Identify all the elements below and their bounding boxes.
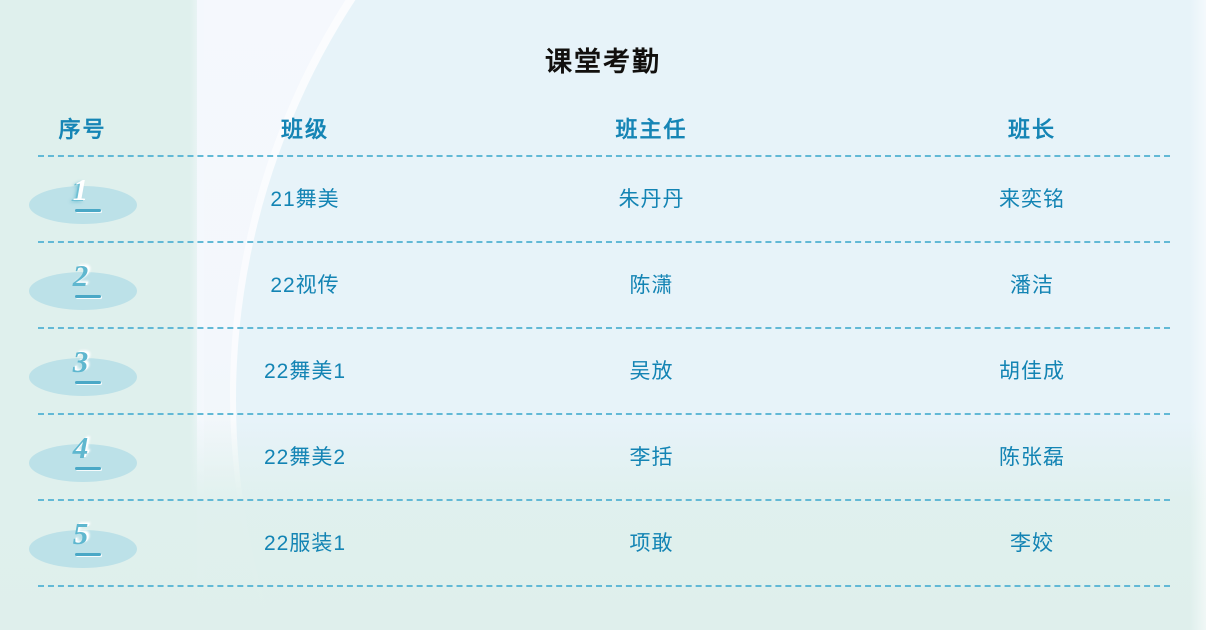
row-teacher-cell: 项敢 [445, 499, 858, 585]
row-divider [38, 585, 1170, 587]
index-number: 1 [73, 172, 89, 208]
index-number: 4 [73, 430, 89, 466]
index-number: 2 [73, 258, 89, 294]
index-badge: 1 [29, 172, 137, 224]
row-teacher-cell: 李括 [445, 413, 858, 499]
class-name: 21舞美 [270, 183, 339, 213]
column-header-teacher-label: 班主任 [615, 112, 687, 144]
monitor-name: 潘洁 [1010, 269, 1054, 299]
row-class-cell: 22视传 [165, 241, 445, 327]
row-teacher-cell: 陈潇 [445, 241, 858, 327]
column-header-monitor-label: 班长 [1008, 112, 1056, 144]
row-monitor-cell: 胡佳成 [858, 327, 1206, 413]
slide-content: 课堂考勤 序号 班级 班主任 班长 [0, 0, 1206, 630]
row-class-cell: 21舞美 [165, 155, 445, 241]
table-row: 2 22视传 陈潇 潘洁 [0, 241, 1206, 327]
table-header-row: 序号 班级 班主任 班长 [0, 100, 1206, 155]
badge-underline-icon [75, 209, 101, 212]
row-index-cell: 4 [0, 413, 165, 499]
table-row: 3 22舞美1 吴放 胡佳成 [0, 327, 1206, 413]
monitor-name: 李姣 [1010, 527, 1054, 557]
attendance-table: 序号 班级 班主任 班长 1 [0, 100, 1206, 585]
row-class-cell: 22舞美2 [165, 413, 445, 499]
row-monitor-cell: 来奕铭 [858, 155, 1206, 241]
row-index-cell: 2 [0, 241, 165, 327]
row-teacher-cell: 朱丹丹 [445, 155, 858, 241]
badge-underline-icon [75, 381, 101, 384]
monitor-name: 来奕铭 [999, 183, 1065, 213]
table-row: 1 21舞美 朱丹丹 来奕铭 [0, 155, 1206, 241]
row-teacher-cell: 吴放 [445, 327, 858, 413]
attendance-slide: 课堂考勤 序号 班级 班主任 班长 [0, 0, 1206, 630]
index-badge: 3 [29, 344, 137, 396]
index-number: 3 [73, 344, 89, 380]
column-header-class: 班级 [165, 100, 445, 155]
page-title: 课堂考勤 [0, 40, 1206, 79]
column-header-monitor: 班长 [858, 100, 1206, 155]
row-monitor-cell: 李姣 [858, 499, 1206, 585]
teacher-name: 朱丹丹 [619, 183, 685, 213]
row-class-cell: 22舞美1 [165, 327, 445, 413]
badge-underline-icon [75, 467, 101, 470]
monitor-name: 陈张磊 [999, 441, 1065, 471]
table-row: 4 22舞美2 李括 陈张磊 [0, 413, 1206, 499]
class-name: 22舞美2 [264, 441, 346, 471]
row-monitor-cell: 陈张磊 [858, 413, 1206, 499]
column-header-class-label: 班级 [281, 112, 329, 144]
index-number: 5 [73, 516, 89, 552]
badge-underline-icon [75, 295, 101, 298]
column-header-teacher: 班主任 [445, 100, 858, 155]
row-index-cell: 3 [0, 327, 165, 413]
row-index-cell: 5 [0, 499, 165, 585]
index-badge: 4 [29, 430, 137, 482]
index-badge: 5 [29, 516, 137, 568]
teacher-name: 项敢 [630, 527, 674, 557]
class-name: 22视传 [270, 269, 339, 299]
index-badge: 2 [29, 258, 137, 310]
row-monitor-cell: 潘洁 [858, 241, 1206, 327]
badge-underline-icon [75, 553, 101, 556]
teacher-name: 李括 [630, 441, 674, 471]
teacher-name: 陈潇 [630, 269, 674, 299]
column-header-index: 序号 [0, 100, 165, 155]
class-name: 22舞美1 [264, 355, 346, 385]
column-header-index-label: 序号 [58, 112, 106, 144]
teacher-name: 吴放 [630, 355, 674, 385]
class-name: 22服装1 [264, 527, 346, 557]
table-row: 5 22服装1 项敢 李姣 [0, 499, 1206, 585]
monitor-name: 胡佳成 [999, 355, 1065, 385]
row-index-cell: 1 [0, 155, 165, 241]
row-class-cell: 22服装1 [165, 499, 445, 585]
